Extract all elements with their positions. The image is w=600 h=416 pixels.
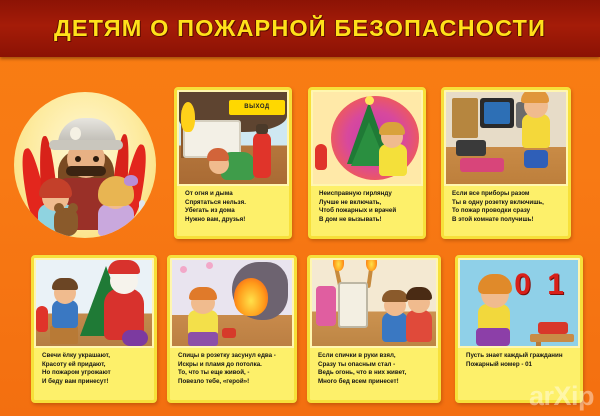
telephone-icon [538, 322, 568, 334]
verse-line: Лучше не включать, [319, 199, 418, 208]
pink-matchbox-character [316, 286, 336, 326]
card-verse: Если спички в руки взял, Сразу ты опасны… [310, 348, 438, 391]
verse-line: От огня и дыма [185, 190, 284, 199]
verse-line: Ты в одну розетку включишь, [452, 199, 563, 208]
verse-line: То, что ты еще живой, - [178, 369, 289, 378]
card-illustration: ВЫХОД [177, 90, 289, 186]
card-verse: Пусть знает каждый гражданин Пожарный но… [458, 348, 580, 374]
verse-line: Спицы в розетку засунул едва - [178, 352, 289, 361]
verse-line: Если все приборы разом [452, 190, 563, 199]
matchbox-character [338, 282, 368, 328]
child-figure [406, 310, 432, 342]
fire-extinguisher-character [253, 132, 271, 178]
radio-icon [456, 140, 486, 156]
tree-star-icon [365, 96, 374, 105]
fire-extinguisher-character [315, 144, 327, 170]
poster-card: Неисправную гирлянду Лучше не включать, … [308, 87, 426, 239]
child-girl [94, 178, 140, 236]
mascot-oval-background [14, 92, 156, 238]
verse-line: И беду вам принесут! [42, 378, 149, 387]
fireman-eye [75, 156, 81, 162]
verse-line: Чтоб пожарных и врачей [319, 207, 418, 216]
card-illustration [310, 258, 438, 348]
flame-icon [234, 278, 268, 316]
poster-card: ВЫХОД От огня и дыма Спрятаться нельзя. … [174, 87, 292, 239]
flame-icon [333, 258, 344, 271]
snowflake-icon [180, 266, 187, 273]
card-illustration: 0 1 [458, 258, 580, 348]
poster-card: 0 1 Пусть знает каждый гражданин Пожарны… [455, 255, 583, 403]
poster-card: Если все приборы разом Ты в одну розетку… [441, 87, 571, 239]
fireman-moustache [66, 166, 106, 176]
verse-line: Пожарный номер - 01 [466, 361, 575, 370]
verse-line: Повезло тебе, «герой»! [178, 378, 289, 387]
verse-line: Много бед всем принесет! [318, 378, 433, 387]
helmet-lamp-icon [70, 127, 81, 140]
child-hair [39, 178, 72, 198]
verse-line: Пусть знает каждый гражданин [466, 352, 575, 361]
child-figure [221, 152, 255, 180]
poster-card: Если спички в руки взял, Сразу ты опасны… [307, 255, 441, 403]
card-illustration [34, 258, 154, 348]
snowflake-icon [206, 262, 213, 269]
verse-line: В этой комнате получишь! [452, 216, 563, 225]
verse-line: То пожар проводки сразу [452, 207, 563, 216]
card-illustration [444, 90, 568, 186]
verse-line: Нужно вам, друзья! [185, 216, 284, 225]
child-figure [379, 144, 407, 176]
fireman-eye [93, 156, 99, 162]
child-trousers [524, 150, 548, 168]
television-icon [480, 98, 514, 128]
gift-sack-icon [122, 330, 148, 346]
verse-line: Ведь огонь, что в них живет, [318, 369, 433, 378]
teddy-bear-icon [54, 208, 78, 236]
verse-line: Красоту ей придают, [42, 361, 149, 370]
poster-card: Спицы в розетку засунул едва - Искры и п… [167, 255, 297, 403]
table [530, 334, 574, 342]
poster-header: ДЕТЯМ О ПОЖАРНОЙ БЕЗОПАСНОСТИ [0, 0, 600, 57]
card-verse: Неисправную гирлянду Лучше не включать, … [311, 186, 423, 229]
shelf [452, 98, 478, 138]
verse-line: Сразу ты опасным стал - [318, 361, 433, 370]
child-skirt [476, 328, 510, 346]
verse-line: В дом не вызывать! [319, 216, 418, 225]
verse-line: Свечи ёлку украшают, [42, 352, 149, 361]
card-verse: От огня и дыма Спрятаться нельзя. Убегат… [177, 186, 289, 229]
verse-line: Неисправную гирлянду [319, 190, 418, 199]
fire-extinguisher-character [36, 306, 48, 332]
mascot-fireman-illustration [14, 92, 156, 238]
card-verse: Если все приборы разом Ты в одну розетку… [444, 186, 568, 229]
poster-root: ДЕТЯМ О ПОЖАРНОЙ БЕЗОПАСНОСТИ [0, 0, 600, 416]
page-title: ДЕТЯМ О ПОЖАРНОЙ БЕЗОПАСНОСТИ [54, 15, 546, 42]
card-verse: Спицы в розетку засунул едва - Искры и п… [170, 348, 294, 391]
fireman-helmet-icon [58, 118, 116, 150]
card-verse: Свечи ёлку украшают, Красоту ей придают,… [34, 348, 154, 391]
verse-line: Если спички в руки взял, [318, 352, 433, 361]
child-figure [522, 114, 550, 148]
keyboard-toy-icon [460, 158, 504, 172]
card-illustration [311, 90, 423, 186]
emergency-number: 0 1 [514, 268, 568, 302]
hair-bow-icon [124, 175, 138, 186]
child-figure [382, 312, 408, 342]
child-figure [52, 300, 78, 328]
exit-sign: ВЫХОД [229, 100, 285, 115]
verse-line: Но пожаром угрожают [42, 369, 149, 378]
poster-card: Свечи ёлку украшают, Красоту ей придают,… [31, 255, 157, 403]
stool [50, 326, 78, 344]
flame-icon [181, 102, 195, 132]
bunny-toy-icon [136, 210, 156, 236]
verse-line: Спрятаться нельзя. [185, 199, 284, 208]
child-trousers [188, 332, 218, 346]
flame-icon [366, 258, 377, 271]
verse-line: Убегать из дома [185, 207, 284, 216]
verse-line: Искры и пламя до потолка. [178, 361, 289, 370]
card-illustration [170, 258, 294, 348]
power-socket-icon [222, 328, 236, 338]
